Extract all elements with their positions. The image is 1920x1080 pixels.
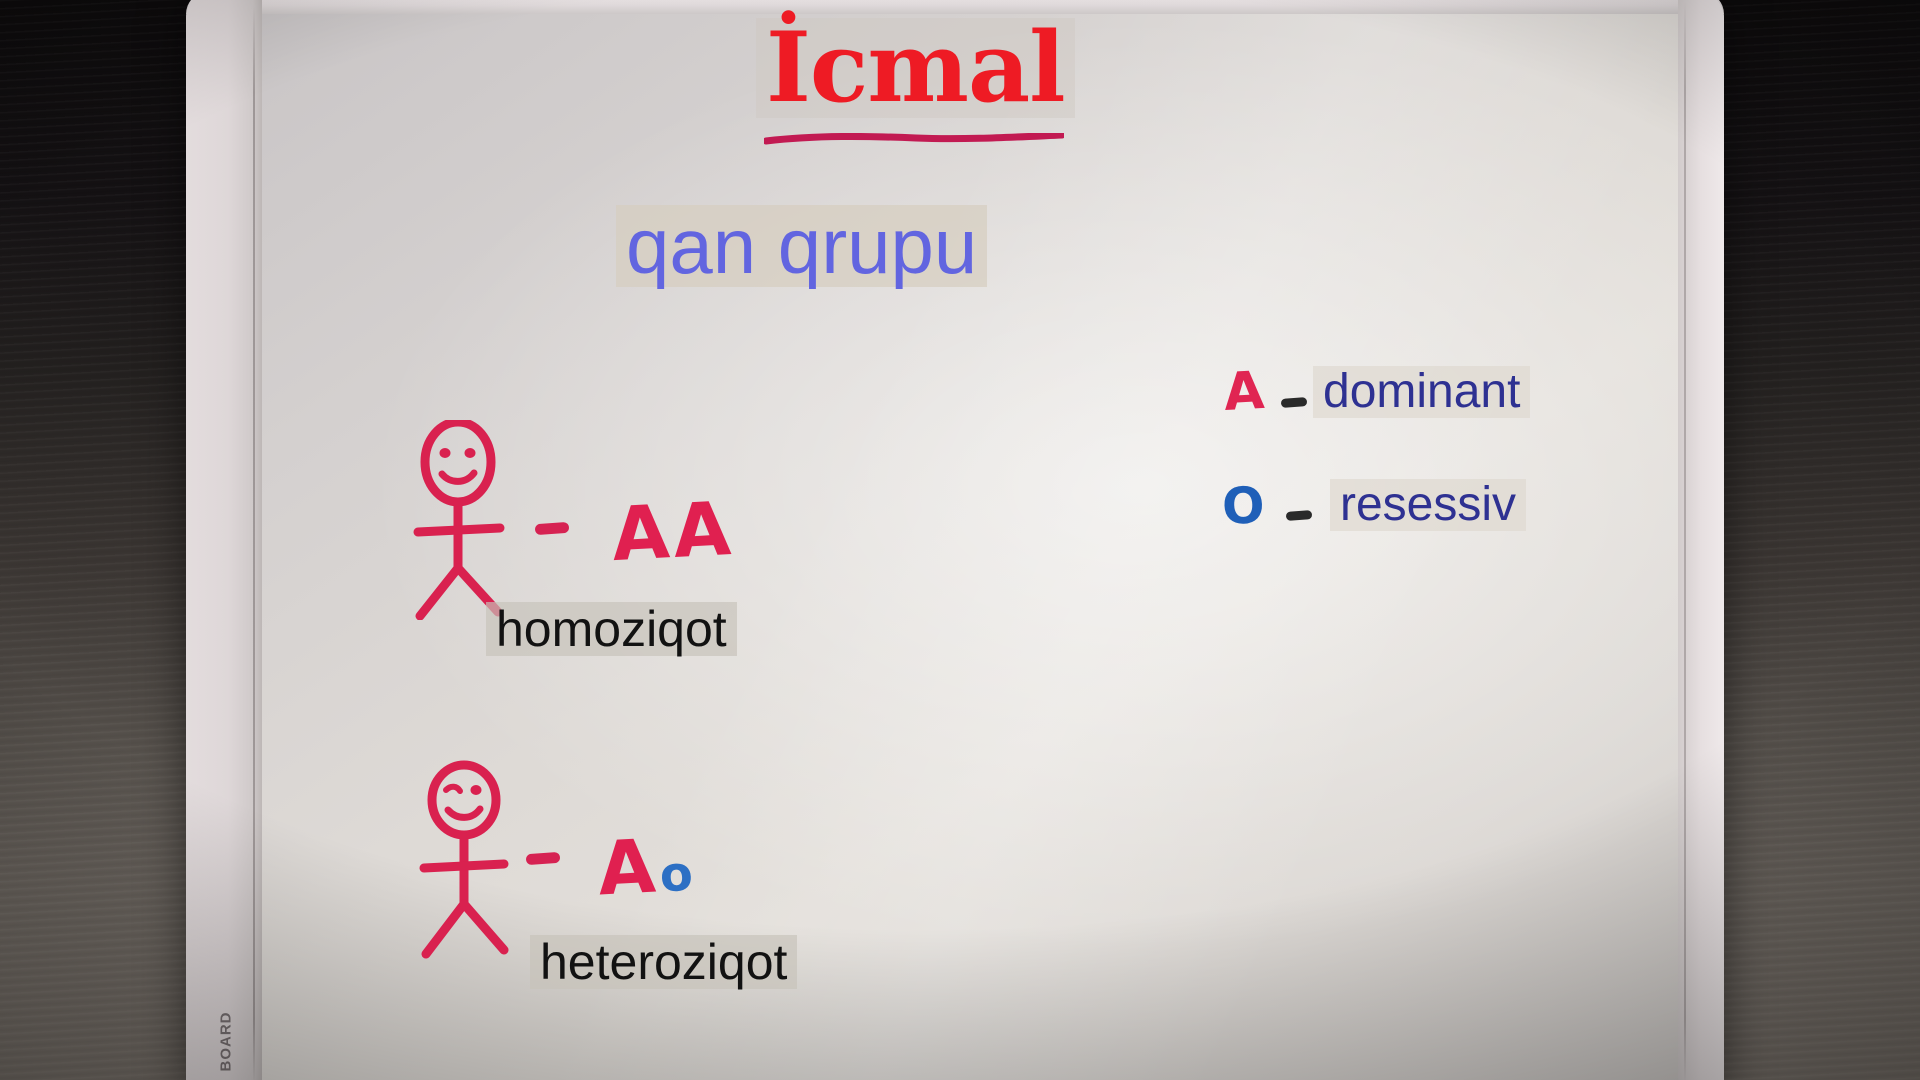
row-dash-1 (535, 522, 570, 535)
page-title: İcmal (756, 18, 1075, 118)
subtitle-qan-qrupu: qan qrupu (616, 205, 987, 287)
legend-dash-o (1286, 510, 1313, 521)
scene-root: BOARD İcmal qan qrupu A dominant O reses… (0, 0, 1920, 1080)
board-brand-label: BOARD (218, 1012, 235, 1072)
stick-figure-smiling-icon (400, 420, 540, 620)
legend-symbol-o: O (1221, 476, 1266, 535)
legend-symbol-a: A (1222, 361, 1265, 423)
whiteboard-frame-right (1678, 0, 1724, 1080)
caption-heteroziqot: heteroziqot (530, 935, 797, 989)
genotype-ao: Ao (596, 821, 699, 912)
legend-dash-a (1281, 397, 1308, 408)
genotype-ao-allele-1: A (596, 823, 662, 912)
genotype-ao-allele-2: o (658, 845, 698, 903)
caption-homoziqot: homoziqot (486, 602, 737, 656)
whiteboard-frame-left (186, 0, 262, 1080)
legend-label-dominant: dominant (1313, 366, 1530, 418)
genotype-aa: AA (610, 486, 737, 578)
legend-label-resessiv: resessiv (1330, 479, 1526, 531)
row-dash-2 (526, 852, 561, 865)
